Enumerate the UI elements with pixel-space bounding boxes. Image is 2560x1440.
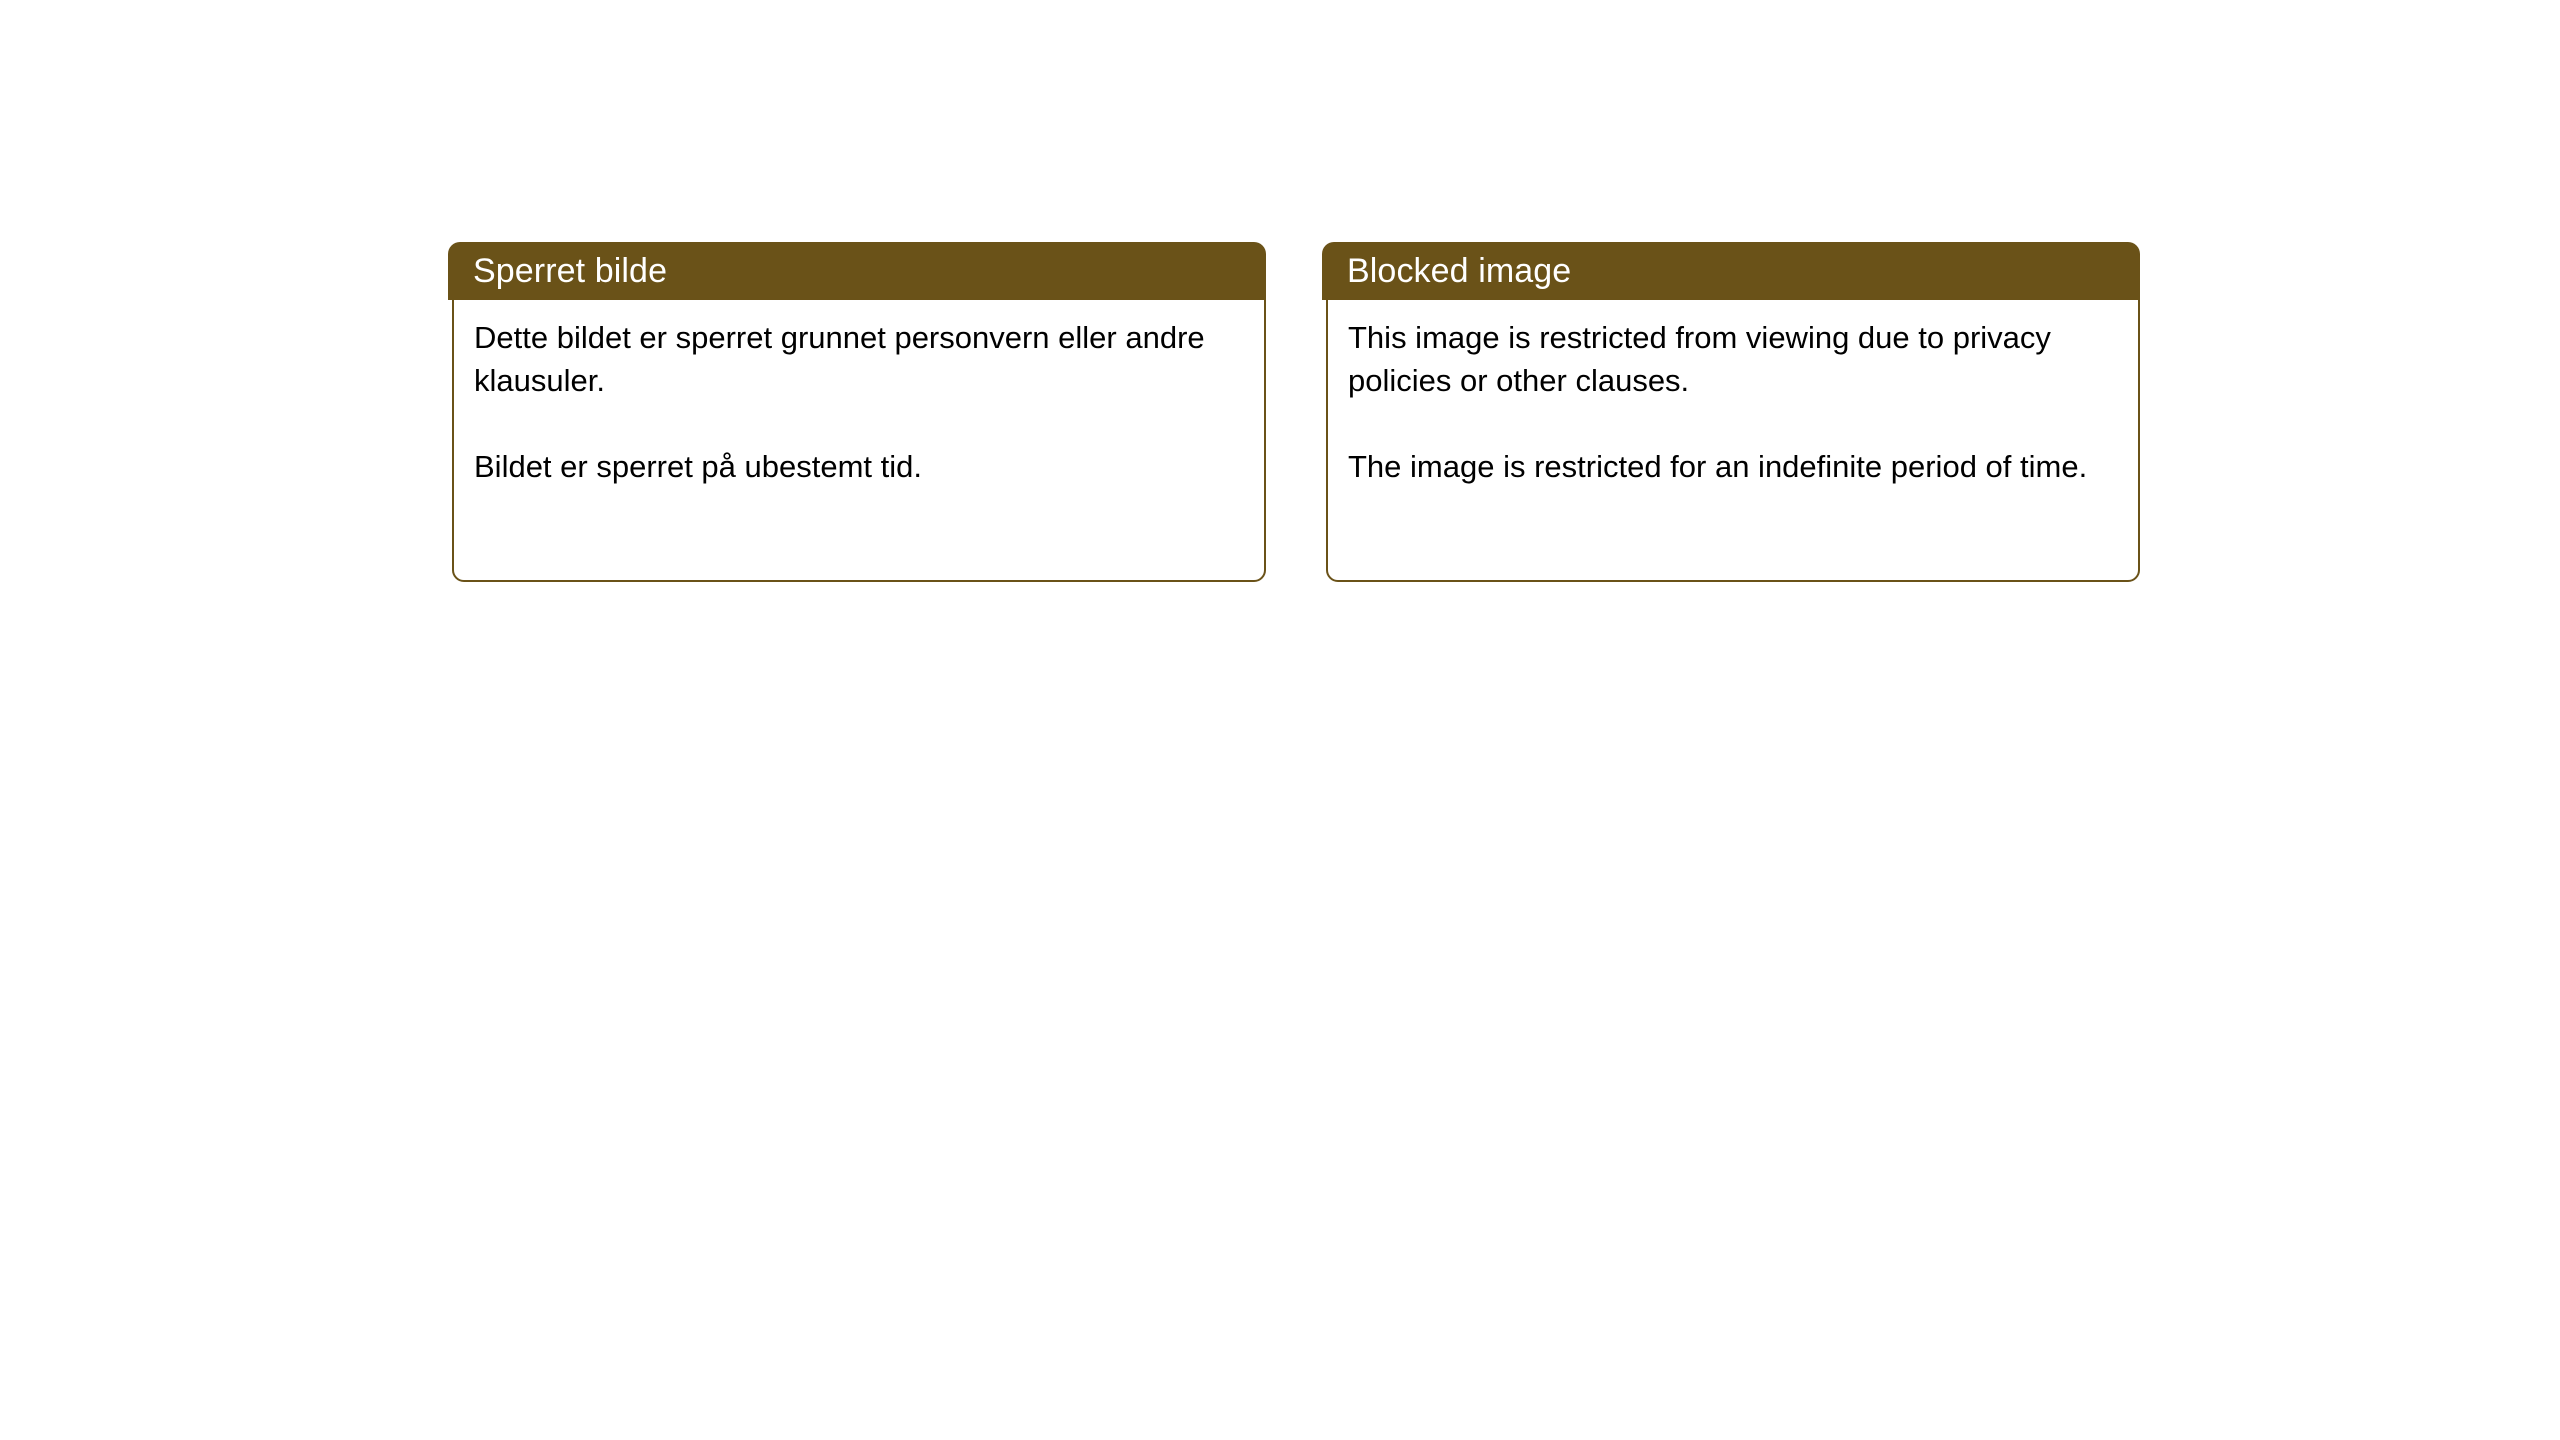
blocked-image-notice-card-norwegian: Sperret bilde Dette bildet er sperret gr… xyxy=(448,242,1266,582)
card-paragraph: This image is restricted from viewing du… xyxy=(1348,316,2122,402)
card-content: This image is restricted from viewing du… xyxy=(1348,316,2122,488)
card-title: Sperret bilde xyxy=(473,254,667,288)
card-paragraph: Bildet er sperret på ubestemt tid. xyxy=(474,445,1248,488)
card-content: Dette bildet er sperret grunnet personve… xyxy=(474,316,1248,488)
card-title: Blocked image xyxy=(1347,254,1571,288)
blocked-image-notice-card-english: Blocked image This image is restricted f… xyxy=(1322,242,2140,582)
card-paragraph: The image is restricted for an indefinit… xyxy=(1348,445,2122,488)
blocked-image-notices: Sperret bilde Dette bildet er sperret gr… xyxy=(0,0,2560,1440)
card-header-bar: Sperret bilde xyxy=(448,242,1266,300)
card-paragraph: Dette bildet er sperret grunnet personve… xyxy=(474,316,1248,402)
card-header-bar: Blocked image xyxy=(1322,242,2140,300)
